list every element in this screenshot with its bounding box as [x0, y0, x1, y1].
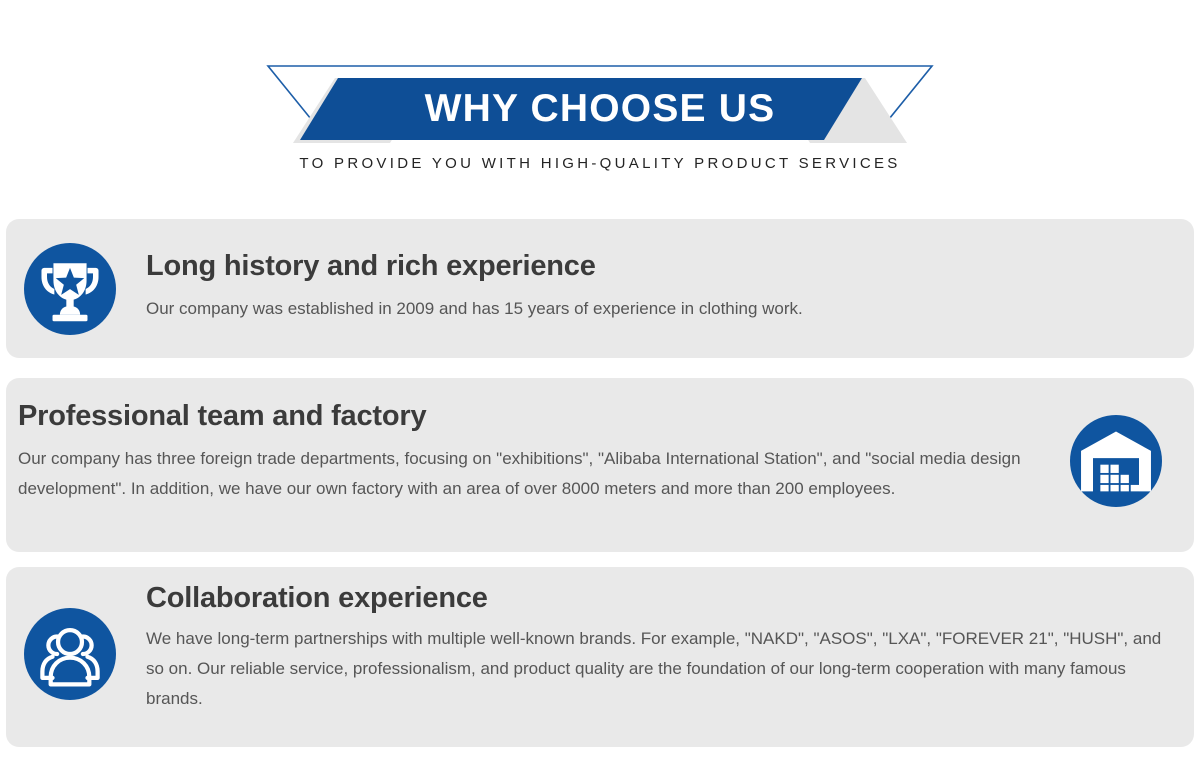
banner-graphic: WHY CHOOSE US: [0, 0, 1200, 150]
page-header: WHY CHOOSE US TO PROVIDE YOU WITH HIGH-Q…: [0, 0, 1200, 200]
card-body: Our company was established in 2009 and …: [146, 294, 1164, 324]
people-group-icon: [24, 608, 116, 700]
card-2-text-block: Professional team and factory Our compan…: [18, 394, 1038, 504]
card-title: Collaboration experience: [146, 576, 1174, 620]
feature-card-collaboration[interactable]: Collaboration experience We have long-te…: [6, 567, 1194, 747]
factory-icon: [1070, 415, 1162, 507]
page-subtitle: TO PROVIDE YOU WITH HIGH-QUALITY PRODUCT…: [0, 155, 1200, 172]
card-1-text-block: Long history and rich experience Our com…: [146, 244, 1164, 324]
feature-card-professional-team[interactable]: Professional team and factory Our compan…: [6, 378, 1194, 552]
feature-card-long-history[interactable]: Long history and rich experience Our com…: [6, 219, 1194, 358]
card-title: Professional team and factory: [18, 394, 1038, 438]
card-title: Long history and rich experience: [146, 244, 1164, 288]
page-title: WHY CHOOSE US: [0, 78, 1200, 140]
card-body: We have long-term partnerships with mult…: [146, 624, 1174, 714]
trophy-icon: [24, 243, 116, 335]
card-body: Our company has three foreign trade depa…: [18, 444, 1038, 504]
card-3-text-block: Collaboration experience We have long-te…: [146, 576, 1174, 714]
